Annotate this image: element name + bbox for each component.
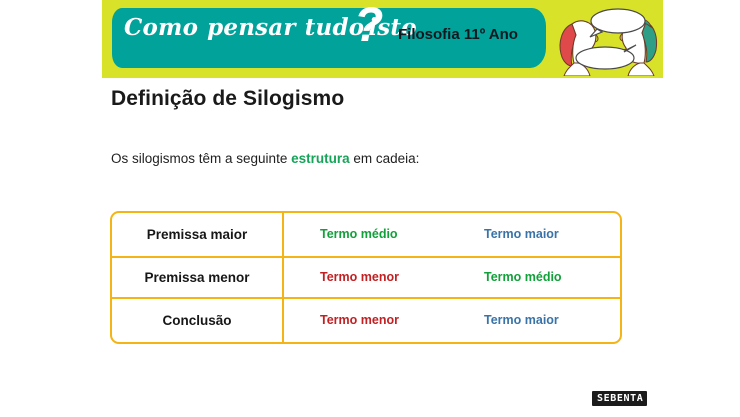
- term-middle: Termo médio: [284, 227, 444, 241]
- table-row: Conclusão Termo menor Termo maior: [112, 299, 620, 342]
- header-banner: Comopensartudoisto ? Filosofia 11º Ano: [102, 0, 663, 78]
- row-terms: Termo menor Termo médio: [284, 258, 620, 297]
- syllogism-structure-table: Premissa maior Termo médio Termo maior P…: [110, 211, 622, 344]
- lead-text-after: em cadeia:: [350, 151, 420, 166]
- sebenta-logo: SEBENTA: [592, 391, 647, 406]
- term-minor: Termo menor: [284, 270, 444, 284]
- lead-paragraph: Os silogismos têm a seguinte estrutura e…: [111, 151, 419, 166]
- term-middle: Termo médio: [444, 270, 620, 284]
- lead-text-before: Os silogismos têm a seguinte: [111, 151, 291, 166]
- lead-highlight-estrutura: estrutura: [291, 151, 350, 166]
- table-row: Premissa maior Termo médio Termo maior: [112, 213, 620, 256]
- row-terms: Termo menor Termo maior: [284, 299, 620, 342]
- term-major: Termo maior: [444, 313, 620, 327]
- slide-canvas: Comopensartudoisto ? Filosofia 11º Ano: [0, 0, 740, 417]
- row-label-premissa-maior: Premissa maior: [112, 213, 284, 256]
- row-label-premissa-menor: Premissa menor: [112, 258, 284, 297]
- row-label-conclusao: Conclusão: [112, 299, 284, 342]
- question-mark-icon: ?: [354, 2, 383, 50]
- two-people-talking-illustration: [550, 4, 663, 76]
- banner-title-word-2: pensar: [207, 14, 296, 41]
- term-major: Termo maior: [444, 227, 620, 241]
- banner-title-word-1: Como: [124, 14, 198, 41]
- row-terms: Termo médio Termo maior: [284, 213, 620, 256]
- table-row: Premissa menor Termo menor Termo médio: [112, 256, 620, 299]
- banner-subject-label: Filosofia 11º Ano: [398, 26, 518, 43]
- page-title: Definição de Silogismo: [111, 87, 344, 111]
- term-minor: Termo menor: [284, 313, 444, 327]
